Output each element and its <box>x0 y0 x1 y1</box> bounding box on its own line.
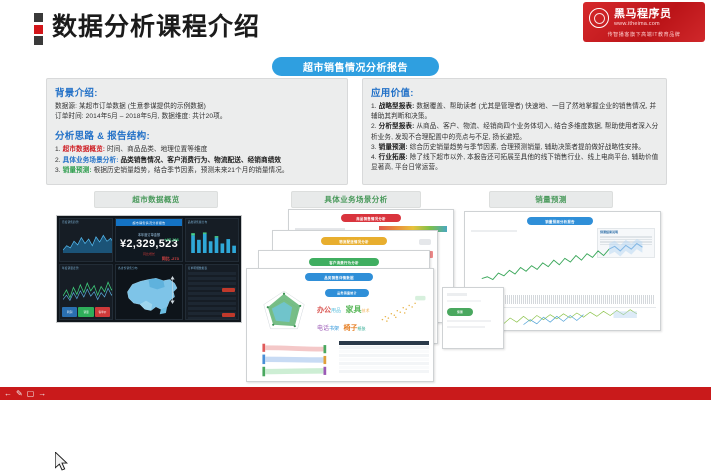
dash-cell-caption: 各省份销售分布 <box>118 266 138 270</box>
value-item-key: 销量预测: <box>379 144 408 151</box>
background-line: 数据源: 某超市订单数据 (生意参谋提供的示例数据) <box>55 102 340 112</box>
mouse-cursor-icon <box>55 452 68 471</box>
value-item: 1. 战略型报表: 数据覆盖、帮助读者 (尤其是管理者) 快速地、一目了然地掌握… <box>371 102 659 122</box>
note-icon[interactable]: ▢ <box>27 388 35 399</box>
analysis-item-num: 1. <box>55 146 61 153</box>
right-value-panel: 应用价值: 1. 战略型报表: 数据覆盖、帮助读者 (尤其是管理者) 快速地、一… <box>362 78 667 185</box>
radar-chart-icon <box>257 287 311 341</box>
value-item: 3. 销量预测: 综合历史销量趋势与季节因素, 合理预测销量, 辅助决策者提前做… <box>371 143 659 153</box>
slide-header: 数据分析课程介绍 黑马程序员 www.itheima.com 传智播客旗下高端I… <box>0 0 711 48</box>
background-line: 订单时间: 2014年5月 – 2018年5月, 数据维度: 共计20项。 <box>55 112 340 122</box>
analysis-item: 2. 具体业务场景分析: 品类销售情况、客户消费行为、物流配送、经销商绩效 <box>55 156 340 166</box>
page-title: 数据分析课程介绍 <box>52 10 260 44</box>
dash-cell-trend: 月度销售趋势 <box>59 218 113 262</box>
value-item-text: 从商品、客户、物流、经销商四个业务体切入, 结合多维度数据, 帮助使用者深入分析… <box>371 123 658 140</box>
value-item-text: 数据覆盖、帮助读者 (尤其是管理者) 快速地、一目了然地掌握企业的销售情况, 并… <box>371 103 656 120</box>
analysis-item-text: 时间、商品品类、地理位置等维度 <box>107 146 207 153</box>
dash-kpi-side: +87,126 同比 -273 <box>162 228 179 262</box>
analysis-item-num: 2. <box>55 157 61 164</box>
dash-cell-bars: 品类销售额分布 <box>185 218 239 262</box>
logo-name: 黑马程序员 <box>614 9 672 20</box>
dash-kpi-panel: 超市销售情况分析报告 本年度订单金额 ¥2,329,523 同比增长 +87,1… <box>115 218 183 262</box>
value-item: 4. 行业拓展: 除了线下超市以外, 本报告还可拓展至具他的线下销售行业、线上电… <box>371 153 659 173</box>
sheet-title-pill: 客户消费行为分析 <box>309 258 379 266</box>
value-item: 2. 分析型报表: 从商品、客户、物流、经销商四个业务体切入, 结合多维度数据,… <box>371 122 659 142</box>
analysis-item: 3. 销量预测: 根据历史销量趋势，结合季节因素，预测未来21个月的销量情况。 <box>55 166 340 176</box>
analysis-item-num: 3. <box>55 167 61 174</box>
scatter-chart-icon <box>375 291 427 329</box>
footer-nav-icons[interactable]: ← ✎ ▢ → <box>4 388 46 399</box>
forecast-thumbnail-group[interactable]: 销量预测分析报告 预测结果说明 <box>452 209 672 339</box>
value-heading: 应用价值: <box>371 85 659 99</box>
sheet-title-pill: 品类销售详情数据 <box>305 273 373 281</box>
right-panel-body: 应用价值: 1. 战略型报表: 数据覆盖、帮助读者 (尤其是管理者) 快速地、一… <box>363 79 666 174</box>
value-item-key: 行业拓展: <box>379 154 408 161</box>
logo-slogan: 传智播客旗下高端IT教育品牌 <box>583 31 705 38</box>
light-dashboard-sheet[interactable]: 品类销售详情数据 办公用品 家具技术 电话书架 椅子纸张 信封装订 <box>246 268 434 382</box>
line-chart-icon <box>63 277 113 303</box>
dash-cell-table: 订单明细数据表 <box>185 264 239 320</box>
slide-footer: ← ✎ ▢ → <box>0 387 711 400</box>
dash-cell-caption: 品类销售额分布 <box>188 220 208 224</box>
dash-cell-yearly: 年度销量走势 利润 销量 客单价 <box>59 264 113 320</box>
sankey-diagram-icon <box>257 341 333 379</box>
legend-item: 销量 <box>78 307 93 317</box>
light-dashboard-stack[interactable]: 商品销售情况分析 物流配送情况分析 <box>246 208 456 380</box>
left-info-panel: 背景介绍: 数据源: 某超市订单数据 (生意参谋提供的示例数据) 订单时间: 2… <box>46 78 348 185</box>
dash-cell-map: 各省份销售分布 <box>115 264 183 320</box>
sheet-title-pill: 商品销售情况分析 <box>341 214 401 222</box>
logo-text: 黑马程序员 www.itheima.com <box>614 9 672 28</box>
slide-root: 数据分析课程介绍 黑马程序员 www.itheima.com 传智播客旗下高端I… <box>0 0 711 400</box>
value-item-key: 战略型报表: <box>379 103 415 110</box>
legend-item: 客单价 <box>95 307 110 317</box>
analysis-item-text: 根据历史销量趋势，结合季节因素，预测未来21个月的销量情况。 <box>94 167 289 174</box>
value-item-num: 1. <box>371 103 377 110</box>
analysis-heading: 分析思路 & 报告结构: <box>55 128 340 142</box>
value-item-num: 3. <box>371 144 377 151</box>
forecast-line-chart <box>475 238 651 286</box>
bar-chart-icon <box>189 231 239 253</box>
value-item-text: 除了线下超市以外, 本报告还可拓展至具他的线下销售行业、线上电商平台, 辅助价值… <box>371 154 658 171</box>
analysis-item-text: 品类销售情况、客户消费行为、物流配送、经销商绩效 <box>120 157 281 164</box>
left-panel-body: 背景介绍: 数据源: 某超市订单数据 (生意参谋提供的示例数据) 订单时间: 2… <box>47 79 347 176</box>
dark-dashboard-thumbnail[interactable]: 月度销售趋势 超市销售情况分析报告 本年度订单金额 ¥2,329,523 同比增… <box>56 215 242 323</box>
background-heading: 背景介绍: <box>55 85 340 99</box>
circle-logo-icon <box>589 8 609 28</box>
dash-kpi-label: 本年度订单金额 <box>138 232 160 237</box>
legend-item: 利润 <box>62 307 77 317</box>
forecast-note-title: 预测结果说明 <box>598 229 654 235</box>
map-scale-icon <box>169 273 176 307</box>
report-title-pill[interactable]: 超市销售情况分析报告 <box>272 57 439 76</box>
analysis-item: 1. 超市数据概览: 时间、商品品类、地理位置等维度 <box>55 145 340 155</box>
analysis-item-key: 超市数据概览: <box>63 146 105 153</box>
dash-kpi-sub: 同比增长 <box>143 252 155 256</box>
logo-url: www.itheima.com <box>614 22 672 28</box>
sheet-title-pill: 物流配送情况分析 <box>321 237 387 245</box>
value-item-key: 分析型报表: <box>379 123 415 130</box>
forecast-sheet-secondary[interactable]: 预测 <box>442 287 504 349</box>
screenshot-gallery: 月度销售趋势 超市销售情况分析报告 本年度订单金额 ¥2,329,523 同比增… <box>0 206 711 382</box>
title-marker-icon <box>34 13 43 45</box>
dash-cell-caption: 年度销量走势 <box>62 266 79 270</box>
dash-kpi-title: 超市销售情况分析报告 <box>116 219 182 226</box>
dash-kpi-green: +87,126 <box>164 237 179 242</box>
brand-logo: 黑马程序员 www.itheima.com 传智播客旗下高端IT教育品牌 <box>583 2 705 42</box>
forward-icon[interactable]: → <box>38 388 46 399</box>
back-icon[interactable]: ← <box>4 388 12 399</box>
logo-row: 黑马程序员 www.itheima.com <box>589 8 672 28</box>
analysis-item-key: 具体业务场景分析: <box>63 157 119 164</box>
area-chart-icon <box>63 231 113 253</box>
forecast-title-pill: 销量预测分析报告 <box>527 217 593 225</box>
value-item-num: 2. <box>371 123 377 130</box>
pen-icon[interactable]: ✎ <box>16 388 23 399</box>
value-item-num: 4. <box>371 154 377 161</box>
value-item-text: 综合历史销量趋势与季节因素, 合理预测销量, 辅助决策者提前做好战略性安排。 <box>410 144 645 151</box>
dash-cell-caption: 订单明细数据表 <box>188 266 208 270</box>
dash-cell-caption: 月度销售趋势 <box>62 220 79 224</box>
analysis-item-key: 销量预测: <box>63 167 92 174</box>
dash-kpi-red: 同比 -273 <box>162 256 179 262</box>
dash-legend: 利润 销量 客单价 <box>62 307 110 317</box>
